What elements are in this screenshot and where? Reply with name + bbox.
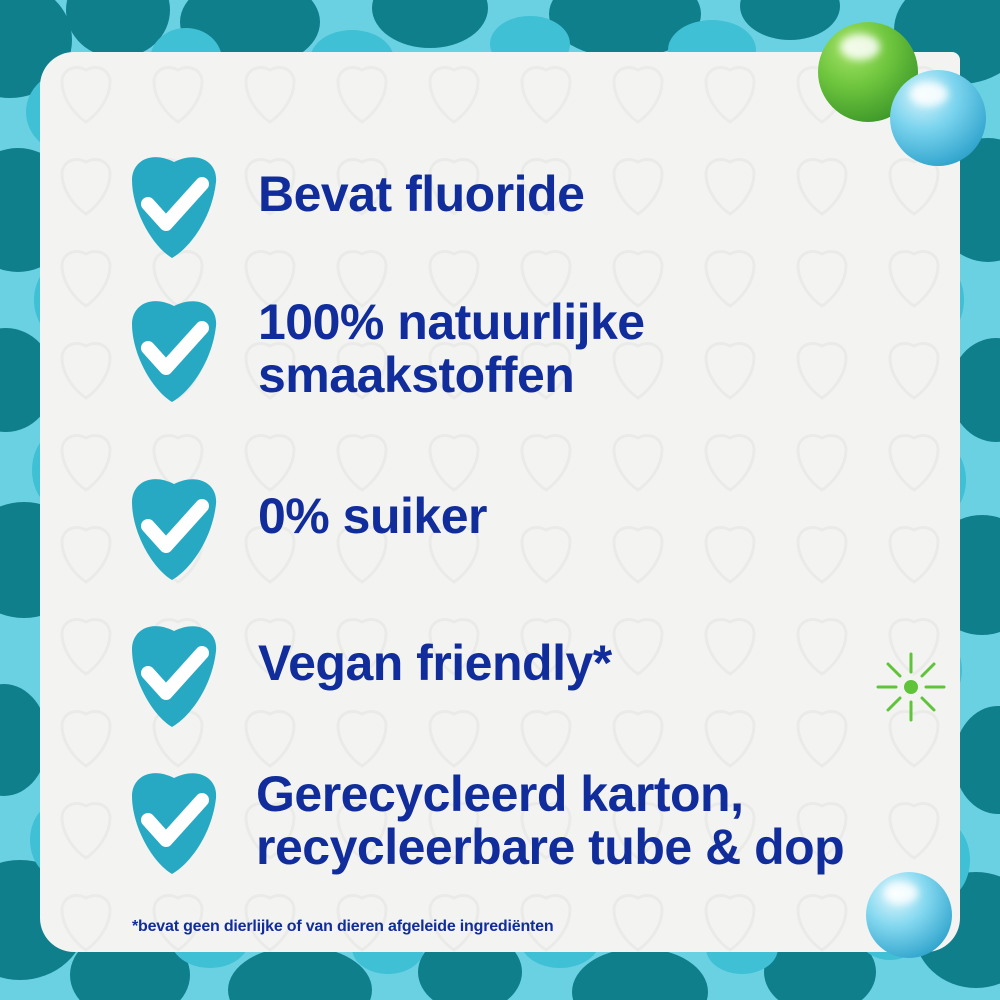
feature-list: Bevat fluoride 100% natuurlijke smaaksto… bbox=[40, 52, 960, 892]
check-icon bbox=[118, 470, 230, 582]
feature-row-natural-flavours: 100% natuurlijke smaakstoffen bbox=[118, 292, 645, 404]
feature-row-vegan: Vegan friendly* bbox=[118, 617, 612, 729]
feature-label: Bevat fluoride bbox=[258, 148, 584, 221]
feature-label: Gerecycleerd karton, recycleerbare tube … bbox=[256, 764, 844, 873]
check-icon bbox=[118, 764, 230, 876]
content-card: Bevat fluoride 100% natuurlijke smaaksto… bbox=[40, 52, 960, 952]
check-icon bbox=[118, 292, 230, 404]
feature-row-recycling: Gerecycleerd karton, recycleerbare tube … bbox=[118, 764, 844, 876]
feature-label: Vegan friendly* bbox=[258, 617, 612, 690]
footnote-text: *bevat geen dierlijke of van dieren afge… bbox=[132, 918, 553, 936]
blue-sphere-top bbox=[890, 70, 986, 166]
feature-label: 100% natuurlijke smaakstoffen bbox=[258, 292, 645, 401]
sparkle-icon bbox=[876, 652, 946, 722]
blue-sphere-bottom bbox=[866, 872, 952, 958]
feature-row-no-sugar: 0% suiker bbox=[118, 470, 487, 582]
check-icon bbox=[118, 148, 230, 260]
poster-canvas: Bevat fluoride 100% natuurlijke smaaksto… bbox=[0, 0, 1000, 1000]
check-icon bbox=[118, 617, 230, 729]
feature-row-fluoride: Bevat fluoride bbox=[118, 148, 584, 260]
feature-label: 0% suiker bbox=[258, 470, 487, 543]
